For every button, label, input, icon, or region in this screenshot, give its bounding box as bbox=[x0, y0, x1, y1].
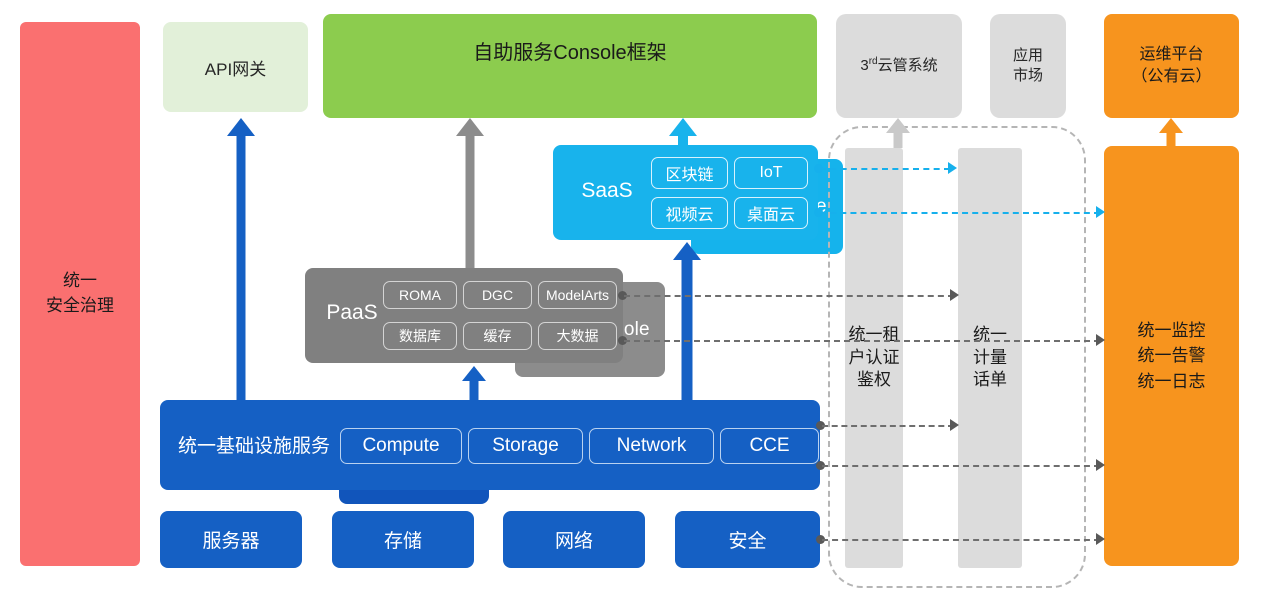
infra-item-cce[interactable]: CCE bbox=[720, 428, 819, 464]
infra-item-network[interactable]: Network bbox=[589, 428, 714, 464]
dashed-line-saas-to-metering bbox=[820, 168, 950, 170]
arrowhead-paas-to-ops bbox=[1096, 334, 1105, 346]
governance-line-2: 安全治理 bbox=[46, 294, 114, 319]
ops-platform-line-2: （公有云） bbox=[1131, 66, 1211, 88]
paas-layer-label: PaaS bbox=[313, 301, 391, 325]
unified-security-governance-block[interactable]: 统一 安全治理 bbox=[20, 22, 140, 566]
dashed-line-iaas-to-metering bbox=[822, 425, 954, 427]
arrowhead-saas-to-metering bbox=[948, 162, 957, 174]
third-party-label: 3rd云管系统 bbox=[860, 55, 937, 76]
arrow-ops-tall-to-ops-top bbox=[1159, 118, 1183, 148]
unified-metering-column[interactable]: 统一 计量 话单 bbox=[958, 148, 1022, 568]
saas-item-blockchain[interactable]: 区块链 bbox=[651, 157, 728, 189]
hardware-item-server[interactable]: 服务器 bbox=[160, 511, 302, 568]
api-gateway-block[interactable]: API网关 bbox=[163, 22, 308, 112]
architecture-diagram: 统一 安全治理 API网关 自助服务Console框架 IaaS console… bbox=[0, 0, 1265, 605]
app-market-line-1: 应用 bbox=[1013, 46, 1043, 66]
governance-line-1: 统一 bbox=[63, 269, 97, 294]
paas-item-database[interactable]: 数据库 bbox=[383, 322, 457, 350]
metering-line-1: 统一 bbox=[973, 324, 1007, 347]
auth-line-1: 统一租 bbox=[849, 324, 900, 347]
metering-line-2: 计量 bbox=[973, 347, 1007, 370]
ops-platform-public-cloud-block[interactable]: 运维平台 （公有云） bbox=[1104, 14, 1239, 118]
arrow-iaas-to-paas bbox=[462, 366, 486, 400]
arrow-iaas-to-saas bbox=[673, 242, 701, 400]
infrastructure-label: 统一基础设施服务 bbox=[178, 431, 330, 458]
ops-platform-line-1: 运维平台 bbox=[1139, 44, 1203, 66]
third-party-cloud-mgmt-block[interactable]: 3rd云管系统 bbox=[836, 14, 962, 118]
arrow-iaas-to-api-gateway bbox=[227, 118, 255, 400]
ops-monitor-line-3: 统一日志 bbox=[1138, 369, 1206, 395]
auth-line-2: 户认证 bbox=[849, 347, 900, 370]
unified-infrastructure-service-bar[interactable]: 统一基础设施服务 Compute Storage Network CCE bbox=[160, 400, 820, 490]
ops-monitor-line-2: 统一告警 bbox=[1138, 343, 1206, 369]
arrow-paas-to-console bbox=[456, 118, 484, 268]
saas-layer-block[interactable]: SaaS 区块链 IoT 视频云 桌面云 bbox=[553, 145, 818, 240]
self-service-console-framework[interactable]: 自助服务Console框架 IaaS console PaaS console … bbox=[323, 14, 817, 118]
arrowhead-saas-to-ops bbox=[1096, 206, 1105, 218]
app-market-block[interactable]: 应用 市场 bbox=[990, 14, 1066, 118]
dashed-line-iaas-to-ops bbox=[822, 465, 1100, 467]
saas-layer-label: SaaS bbox=[567, 179, 647, 203]
arrow-shared-to-third-party bbox=[886, 118, 910, 148]
dashed-line-hardware-to-ops bbox=[822, 539, 1100, 541]
third-party-superscript: rd bbox=[869, 56, 878, 67]
console-framework-title: 自助服务Console框架 bbox=[323, 36, 817, 65]
saas-item-video-cloud[interactable]: 视频云 bbox=[651, 197, 728, 229]
hardware-item-network[interactable]: 网络 bbox=[503, 511, 645, 568]
paas-item-bigdata[interactable]: 大数据 bbox=[538, 322, 617, 350]
metering-line-3: 话单 bbox=[973, 369, 1007, 392]
saas-item-desktop-cloud[interactable]: 桌面云 bbox=[734, 197, 808, 229]
arrowhead-iaas-to-ops bbox=[1096, 459, 1105, 471]
unified-tenant-auth-column[interactable]: 统一租 户认证 鉴权 bbox=[845, 148, 903, 568]
paas-item-modelarts[interactable]: ModelArts bbox=[538, 281, 617, 309]
paas-item-roma[interactable]: ROMA bbox=[383, 281, 457, 309]
infra-item-storage[interactable]: Storage bbox=[468, 428, 583, 464]
arrowhead-hardware-to-ops bbox=[1096, 533, 1105, 545]
api-gateway-label: API网关 bbox=[205, 55, 266, 80]
hardware-item-storage[interactable]: 存储 bbox=[332, 511, 474, 568]
paas-item-cache[interactable]: 缓存 bbox=[463, 322, 532, 350]
dashed-line-paas-to-ops bbox=[624, 340, 1100, 342]
ops-monitor-line-1: 统一监控 bbox=[1138, 318, 1206, 344]
dashed-line-paas-to-auth bbox=[624, 295, 954, 297]
app-market-line-2: 市场 bbox=[1013, 66, 1043, 86]
hardware-item-security[interactable]: 安全 bbox=[675, 511, 820, 568]
paas-layer-block[interactable]: PaaS ROMA DGC ModelArts 数据库 缓存 大数据 bbox=[305, 268, 623, 363]
arrow-saas-to-console bbox=[669, 118, 697, 146]
arrowhead-iaas-to-metering bbox=[950, 419, 959, 431]
dashed-line-saas-to-ops bbox=[820, 212, 1100, 214]
saas-item-iot[interactable]: IoT bbox=[734, 157, 808, 189]
infra-item-compute[interactable]: Compute bbox=[340, 428, 462, 464]
ops-platform-monitoring-block[interactable]: 统一监控 统一告警 统一日志 bbox=[1104, 146, 1239, 566]
auth-line-3: 鉴权 bbox=[857, 369, 891, 392]
paas-item-dgc[interactable]: DGC bbox=[463, 281, 532, 309]
arrowhead-paas-to-auth bbox=[950, 289, 959, 301]
